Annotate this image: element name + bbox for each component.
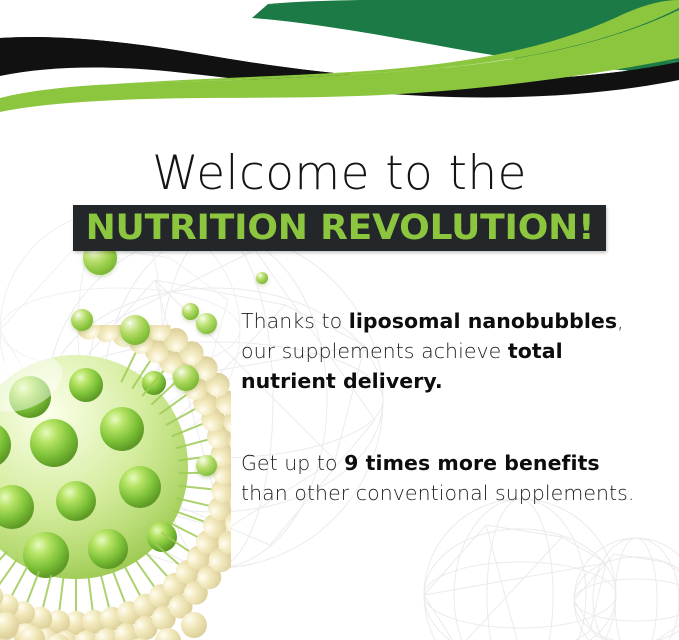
headline-block: Welcome to the NUTRITION REVOLUTION! bbox=[0, 148, 679, 251]
headline-banner-text: NUTRITION REVOLUTION! bbox=[85, 210, 594, 246]
floating-nanobubble-2 bbox=[71, 309, 93, 331]
benefits-list: Thanks to liposomal nanobubbles, our sup… bbox=[196, 306, 636, 508]
benefit-text-2: Get up to 9 times more benefits than oth… bbox=[241, 448, 636, 508]
benefit-2-seg-0: Get up to bbox=[241, 451, 344, 475]
benefit-text-1: Thanks to liposomal nanobubbles, our sup… bbox=[241, 306, 636, 396]
floating-nanobubble-6 bbox=[256, 272, 268, 284]
list-item: Thanks to liposomal nanobubbles, our sup… bbox=[196, 306, 636, 396]
headline-banner: NUTRITION REVOLUTION! bbox=[73, 205, 606, 251]
floating-nanobubble-3 bbox=[120, 315, 150, 345]
liposome-core bbox=[0, 343, 188, 579]
benefit-1-seg-0: Thanks to bbox=[241, 309, 349, 333]
decorative-wave-ribbon bbox=[0, 0, 679, 125]
benefit-2-seg-2: than other conventional supplements. bbox=[241, 481, 634, 505]
benefit-1-seg-1: liposomal nanobubbles bbox=[349, 309, 617, 333]
green-sphere-bullet-icon bbox=[196, 455, 217, 476]
list-item: Get up to 9 times more benefits than oth… bbox=[196, 448, 636, 508]
green-sphere-bullet-icon bbox=[196, 313, 217, 334]
poster-canvas: Welcome to the NUTRITION REVOLUTION! Tha… bbox=[0, 0, 679, 640]
benefit-2-seg-1: 9 times more benefits bbox=[344, 451, 600, 475]
page-title-welcome: Welcome to the bbox=[0, 148, 679, 200]
